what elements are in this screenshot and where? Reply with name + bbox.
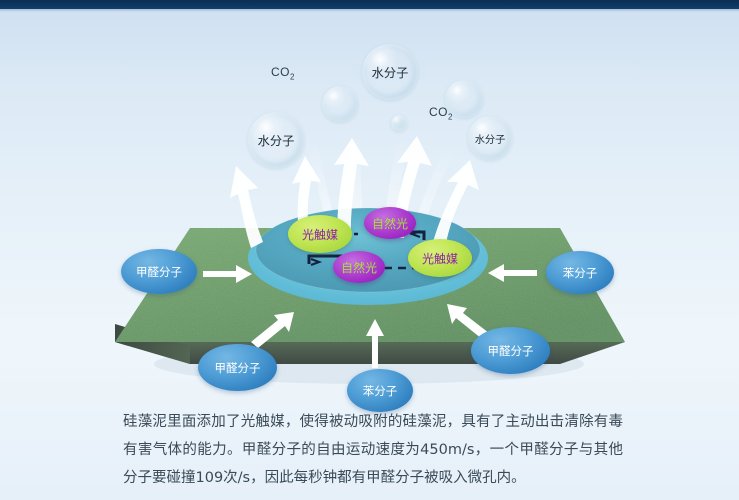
gas-benzene-bottom: 苯分子 [347,369,413,412]
gas-formaldehyde-bottom-right: 甲醛分子 [471,327,550,374]
node-label: 自然光 [372,215,408,232]
gas-label: 甲醛分子 [488,343,534,359]
node-photocatalyst-right: 光触媒 [408,239,472,277]
co2-subscript: 2 [290,72,295,81]
gas-label: 苯分子 [563,265,598,281]
node-label: 光触媒 [302,226,338,243]
gas-benzene-right: 苯分子 [546,251,614,294]
gas-label: 甲醛分子 [215,360,261,376]
co2-label-left: CO2 [271,65,295,81]
caption-text: 硅藻泥里面添加了光触媒，使得被动吸附的硅藻泥，具有了主动出击清除有毒有害气体的能… [123,408,623,492]
gas-formaldehyde-bottom-left: 甲醛分子 [198,344,277,391]
node-photocatalyst-left: 光触媒 [288,215,352,253]
co2-text: CO [271,65,290,79]
node-label: 自然光 [341,259,377,276]
node-natural-light-lower: 自然光 [333,251,385,283]
infographic-page: 水分子 水分子 水分子 CO2 CO2 光触媒 光触媒 自然光 自然光 [0,0,739,500]
node-label: 光触媒 [422,250,458,267]
bubble-label: 水分子 [475,131,506,146]
bubble-plain-mid [322,86,358,122]
photocatalysis-diagram: 水分子 水分子 水分子 CO2 CO2 光触媒 光触媒 自然光 自然光 [0,12,739,402]
gas-formaldehyde-left: 甲醛分子 [121,249,197,294]
gas-label: 苯分子 [363,383,398,399]
co2-text: CO [429,105,448,119]
bubble-label: 水分子 [372,64,409,81]
gas-label: 甲醛分子 [136,264,182,280]
decorative-top-bar [0,0,739,9]
caption-block: 硅藻泥里面添加了光触媒，使得被动吸附的硅藻泥，具有了主动出击清除有毒有害气体的能… [123,408,623,492]
bubble-water-molecule-right: 水分子 [468,116,512,160]
bubble-label: 水分子 [258,132,295,149]
bubble-plain-tiny [391,115,407,131]
bubble-water-molecule-top: 水分子 [362,44,418,100]
node-natural-light-upper: 自然光 [364,207,416,239]
bubble-water-molecule-left: 水分子 [248,112,304,168]
co2-label-right: CO2 [429,105,453,121]
co2-subscript: 2 [448,112,453,121]
